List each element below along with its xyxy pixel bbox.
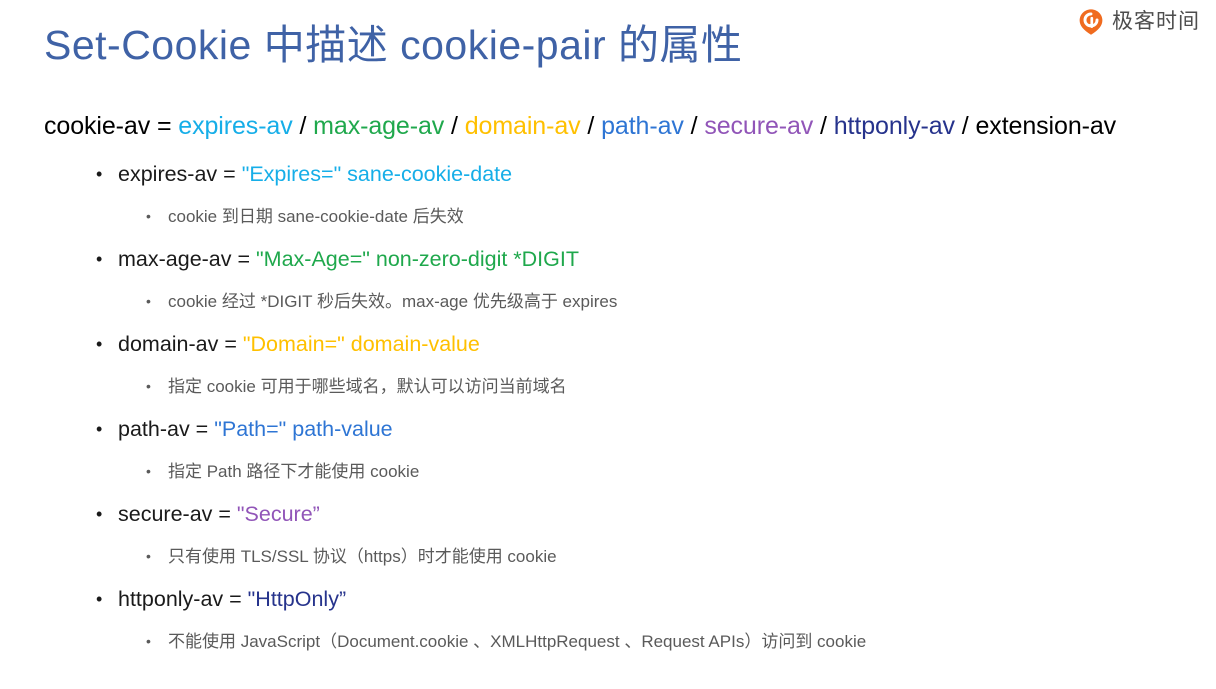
bullet-domain-av: domain-av = "Domain=" domain-value bbox=[0, 322, 1216, 366]
cookie-av-definition-segment-3: max-age-av bbox=[313, 112, 444, 140]
cookie-av-definition-segment-6: / bbox=[581, 112, 602, 140]
cookie-av-definition-segment-9: secure-av bbox=[704, 112, 813, 140]
bullet-httponly-av-segment-1: "HttpOnly” bbox=[248, 587, 346, 611]
sub-bullet-httponly-av: 不能使用 JavaScript（Document.cookie 、XMLHttp… bbox=[0, 621, 1216, 662]
bullet-httponly-av: httponly-av = "HttpOnly” bbox=[0, 577, 1216, 621]
cookie-av-definition-segment-13: extension-av bbox=[976, 112, 1117, 140]
bullet-max-age-av: max-age-av = "Max-Age=" non-zero-digit *… bbox=[0, 237, 1216, 281]
cookie-av-definition-segment-2: / bbox=[293, 112, 314, 140]
bullet-max-age-av-segment-1: "Max-Age=" non-zero-digit *DIGIT bbox=[256, 247, 579, 271]
bullet-expires-av-segment-1: "Expires=" sane-cookie-date bbox=[242, 162, 512, 186]
bullet-secure-av-segment-1: "Secure” bbox=[237, 502, 320, 526]
bullet-max-age-av-segment-0: max-age-av = bbox=[118, 247, 256, 271]
bullet-path-av-segment-1: "Path=" path-value bbox=[214, 417, 392, 441]
page-title: Set-Cookie 中描述 cookie-pair 的属性 bbox=[44, 22, 743, 69]
brand-logo: 极客时间 bbox=[1077, 8, 1200, 36]
cookie-av-definition-segment-7: path-av bbox=[601, 112, 684, 140]
cookie-av-definition-segment-8: / bbox=[684, 112, 705, 140]
cookie-av-definition-segment-1: expires-av bbox=[178, 112, 292, 140]
sub-bullet-secure-av: 只有使用 TLS/SSL 协议（https）时才能使用 cookie bbox=[0, 536, 1216, 577]
cookie-av-definition-segment-11: httponly-av bbox=[834, 112, 955, 140]
cookie-av-definition-segment-12: / bbox=[955, 112, 976, 140]
slide-body: cookie-av = expires-av / max-age-av / do… bbox=[0, 110, 1216, 662]
bullet-list: expires-av = "Expires=" sane-cookie-date… bbox=[0, 152, 1216, 662]
sub-bullet-domain-av: 指定 cookie 可用于哪些域名，默认可以访问当前域名 bbox=[0, 366, 1216, 407]
bullet-expires-av-segment-0: expires-av = bbox=[118, 162, 242, 186]
sub-bullet-expires-av: cookie 到日期 sane-cookie-date 后失效 bbox=[0, 196, 1216, 237]
cookie-av-definition-line: cookie-av = expires-av / max-age-av / do… bbox=[0, 110, 1216, 143]
cookie-av-definition-segment-10: / bbox=[813, 112, 834, 140]
bullet-httponly-av-segment-0: httponly-av = bbox=[118, 587, 248, 611]
bullet-path-av-segment-0: path-av = bbox=[118, 417, 214, 441]
cookie-av-definition-segment-0: cookie-av = bbox=[44, 112, 178, 140]
bullet-secure-av: secure-av = "Secure” bbox=[0, 492, 1216, 536]
cookie-av-definition-segment-5: domain-av bbox=[465, 112, 581, 140]
brand-name: 极客时间 bbox=[1112, 8, 1200, 36]
cookie-av-definition-segment-4: / bbox=[444, 112, 465, 140]
sub-bullet-path-av: 指定 Path 路径下才能使用 cookie bbox=[0, 451, 1216, 492]
sub-bullet-max-age-av: cookie 经过 *DIGIT 秒后失效。max-age 优先级高于 expi… bbox=[0, 281, 1216, 322]
bullet-domain-av-segment-1: "Domain=" domain-value bbox=[243, 332, 480, 356]
bullet-expires-av: expires-av = "Expires=" sane-cookie-date bbox=[0, 152, 1216, 196]
bullet-domain-av-segment-0: domain-av = bbox=[118, 332, 243, 356]
bullet-path-av: path-av = "Path=" path-value bbox=[0, 407, 1216, 451]
geektime-pin-logo-icon bbox=[1077, 8, 1105, 36]
bullet-secure-av-segment-0: secure-av = bbox=[118, 502, 237, 526]
